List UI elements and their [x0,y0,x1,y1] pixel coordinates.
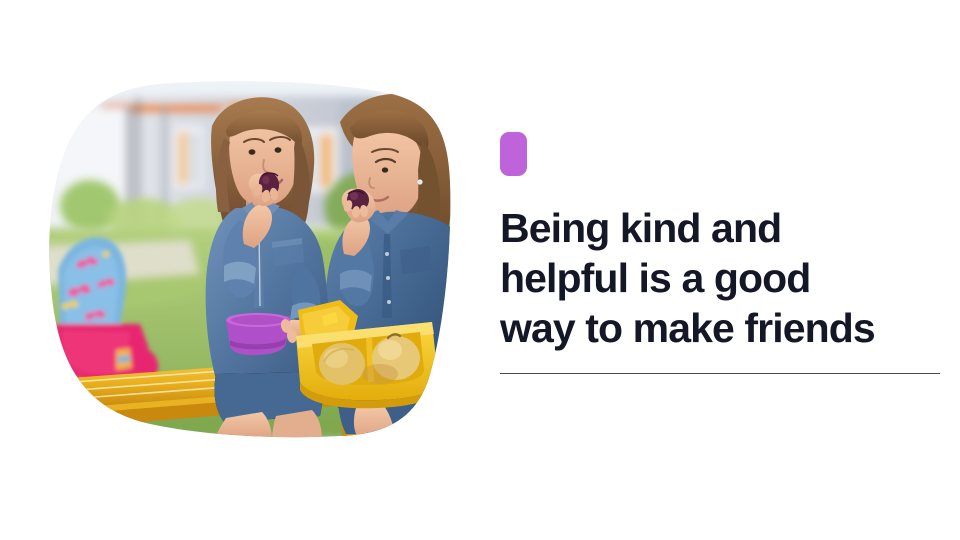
slide-root: Being kind and helpful is a good way to … [0,0,960,540]
photo-blob-image [40,78,452,440]
text-panel: Being kind and helpful is a good way to … [500,132,942,374]
horizontal-rule-divider [500,373,940,374]
purple-container [226,313,290,355]
photo-panel [40,78,452,440]
page-title: Being kind and helpful is a good way to … [500,203,942,353]
purple-accent-bar [500,132,527,176]
